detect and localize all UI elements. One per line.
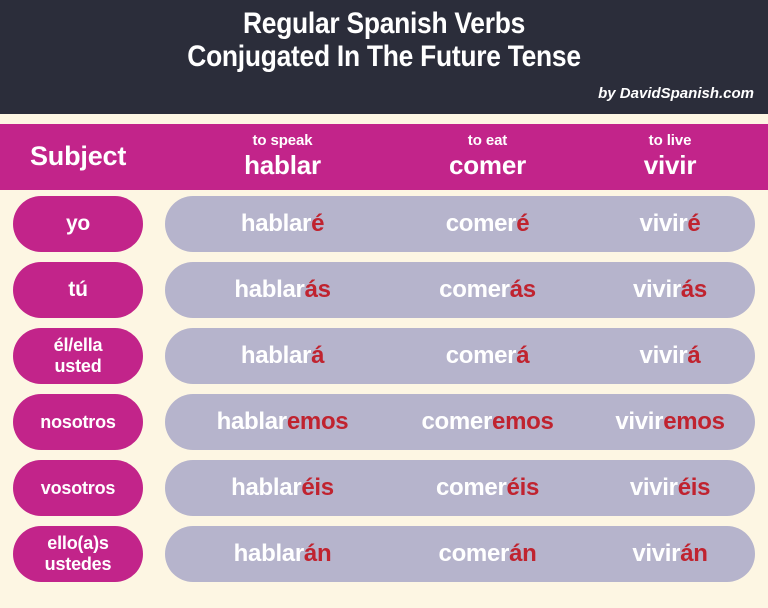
title-band: Regular Spanish Verbs Conjugated In The … [0, 0, 768, 114]
conjugation-rows: yo hablaré comeré viviré tú hablarás [0, 196, 768, 592]
table-row: él/ella usted hablará comerá vivirá [0, 328, 768, 384]
forms-pill: hablaré comeré viviré [165, 196, 755, 252]
subject-pill-el-ella-usted: él/ella usted [13, 328, 143, 384]
title-line-1: Regular Spanish Verbs [46, 7, 722, 40]
form-stem: hablar [241, 342, 311, 370]
form-ending: án [680, 540, 707, 568]
form-ending: éis [507, 474, 539, 502]
form-comer-ellos: comerán [395, 526, 580, 582]
table-row: yo hablaré comeré viviré [0, 196, 768, 252]
form-comer-el: comerá [395, 328, 580, 384]
subject-pill-tu: tú [13, 262, 143, 318]
form-ending: á [687, 342, 700, 370]
title-line-2: Conjugated In The Future Tense [46, 40, 722, 73]
subject-pill-nosotros: nosotros [13, 394, 143, 450]
form-hablar-nosotros: hablaremos [190, 394, 375, 450]
form-stem: hablar [234, 276, 304, 304]
form-comer-vosotros: comeréis [395, 460, 580, 516]
form-vivir-yo: viviré [590, 196, 750, 252]
form-ending: á [516, 342, 529, 370]
column-gloss-hablar: to speak [190, 132, 375, 150]
form-stem: comer [436, 474, 507, 502]
form-vivir-ellos: vivirán [590, 526, 750, 582]
form-hablar-vosotros: hablaréis [190, 460, 375, 516]
form-hablar-ellos: hablarán [190, 526, 375, 582]
form-stem: hablar [231, 474, 301, 502]
form-vivir-tu: vivirás [590, 262, 750, 318]
table-row: ello(a)s ustedes hablarán comerán vivirá… [0, 526, 768, 582]
form-vivir-vosotros: viviréis [590, 460, 750, 516]
subject-pill-yo: yo [13, 196, 143, 252]
column-header-vivir: to live vivir [590, 132, 750, 181]
column-header-hablar: to speak hablar [190, 132, 375, 181]
subject-label: nosotros [40, 411, 115, 433]
form-stem: vivir [633, 276, 681, 304]
column-header-subject: Subject [30, 141, 126, 172]
column-header-comer: to eat comer [395, 132, 580, 181]
form-comer-nosotros: comeremos [395, 394, 580, 450]
column-infinitive-vivir: vivir [590, 150, 750, 181]
form-hablar-yo: hablaré [190, 196, 375, 252]
form-ending: án [509, 540, 536, 568]
form-ending: án [304, 540, 331, 568]
forms-pill: hablaremos comeremos viviremos [165, 394, 755, 450]
form-hablar-el: hablará [190, 328, 375, 384]
form-vivir-el: vivirá [590, 328, 750, 384]
form-ending: éis [678, 474, 710, 502]
subject-label: tú [68, 279, 87, 301]
form-ending: á [311, 342, 324, 370]
form-stem: comer [439, 276, 510, 304]
form-ending: é [687, 210, 700, 238]
form-ending: emos [663, 408, 725, 436]
subject-pill-vosotros: vosotros [13, 460, 143, 516]
form-stem: hablar [241, 210, 311, 238]
forms-pill: hablarás comerás vivirás [165, 262, 755, 318]
form-stem: vivir [640, 210, 688, 238]
table-row: vosotros hablaréis comeréis viviréis [0, 460, 768, 516]
form-vivir-nosotros: viviremos [590, 394, 750, 450]
form-ending: ás [510, 276, 536, 304]
form-comer-yo: comeré [395, 196, 580, 252]
forms-pill: hablaréis comeréis viviréis [165, 460, 755, 516]
column-infinitive-hablar: hablar [190, 150, 375, 181]
form-ending: é [516, 210, 529, 238]
form-hablar-tu: hablarás [190, 262, 375, 318]
subject-label: yo [66, 213, 90, 235]
form-ending: é [311, 210, 324, 238]
table-row: tú hablarás comerás vivirás [0, 262, 768, 318]
form-ending: ás [305, 276, 331, 304]
subject-label: ello(a)s ustedes [45, 533, 112, 575]
subject-pill-ellos-ustedes: ello(a)s ustedes [13, 526, 143, 582]
form-stem: hablar [234, 540, 304, 568]
form-stem: comer [439, 540, 510, 568]
column-gloss-comer: to eat [395, 132, 580, 150]
form-stem: vivir [632, 540, 680, 568]
form-stem: vivir [630, 474, 678, 502]
form-stem: vivir [640, 342, 688, 370]
form-stem: vivir [615, 408, 663, 436]
form-comer-tu: comerás [395, 262, 580, 318]
form-stem: comer [446, 210, 517, 238]
infographic-root: Regular Spanish Verbs Conjugated In The … [0, 0, 768, 608]
form-ending: ás [681, 276, 707, 304]
subject-label: vosotros [41, 477, 115, 499]
forms-pill: hablarán comerán vivirán [165, 526, 755, 582]
form-ending: éis [301, 474, 333, 502]
table-row: nosotros hablaremos comeremos viviremos [0, 394, 768, 450]
form-ending: emos [492, 408, 554, 436]
forms-pill: hablará comerá vivirá [165, 328, 755, 384]
form-stem: hablar [217, 408, 287, 436]
form-stem: comer [446, 342, 517, 370]
subject-label: él/ella usted [54, 335, 103, 377]
byline-credit: by DavidSpanish.com [598, 85, 754, 102]
table-header-bar: Subject to speak hablar to eat comer to … [0, 124, 768, 190]
page-title: Regular Spanish Verbs Conjugated In The … [46, 7, 722, 73]
column-infinitive-comer: comer [395, 150, 580, 181]
form-ending: emos [287, 408, 349, 436]
form-stem: comer [421, 408, 492, 436]
column-gloss-vivir: to live [590, 132, 750, 150]
